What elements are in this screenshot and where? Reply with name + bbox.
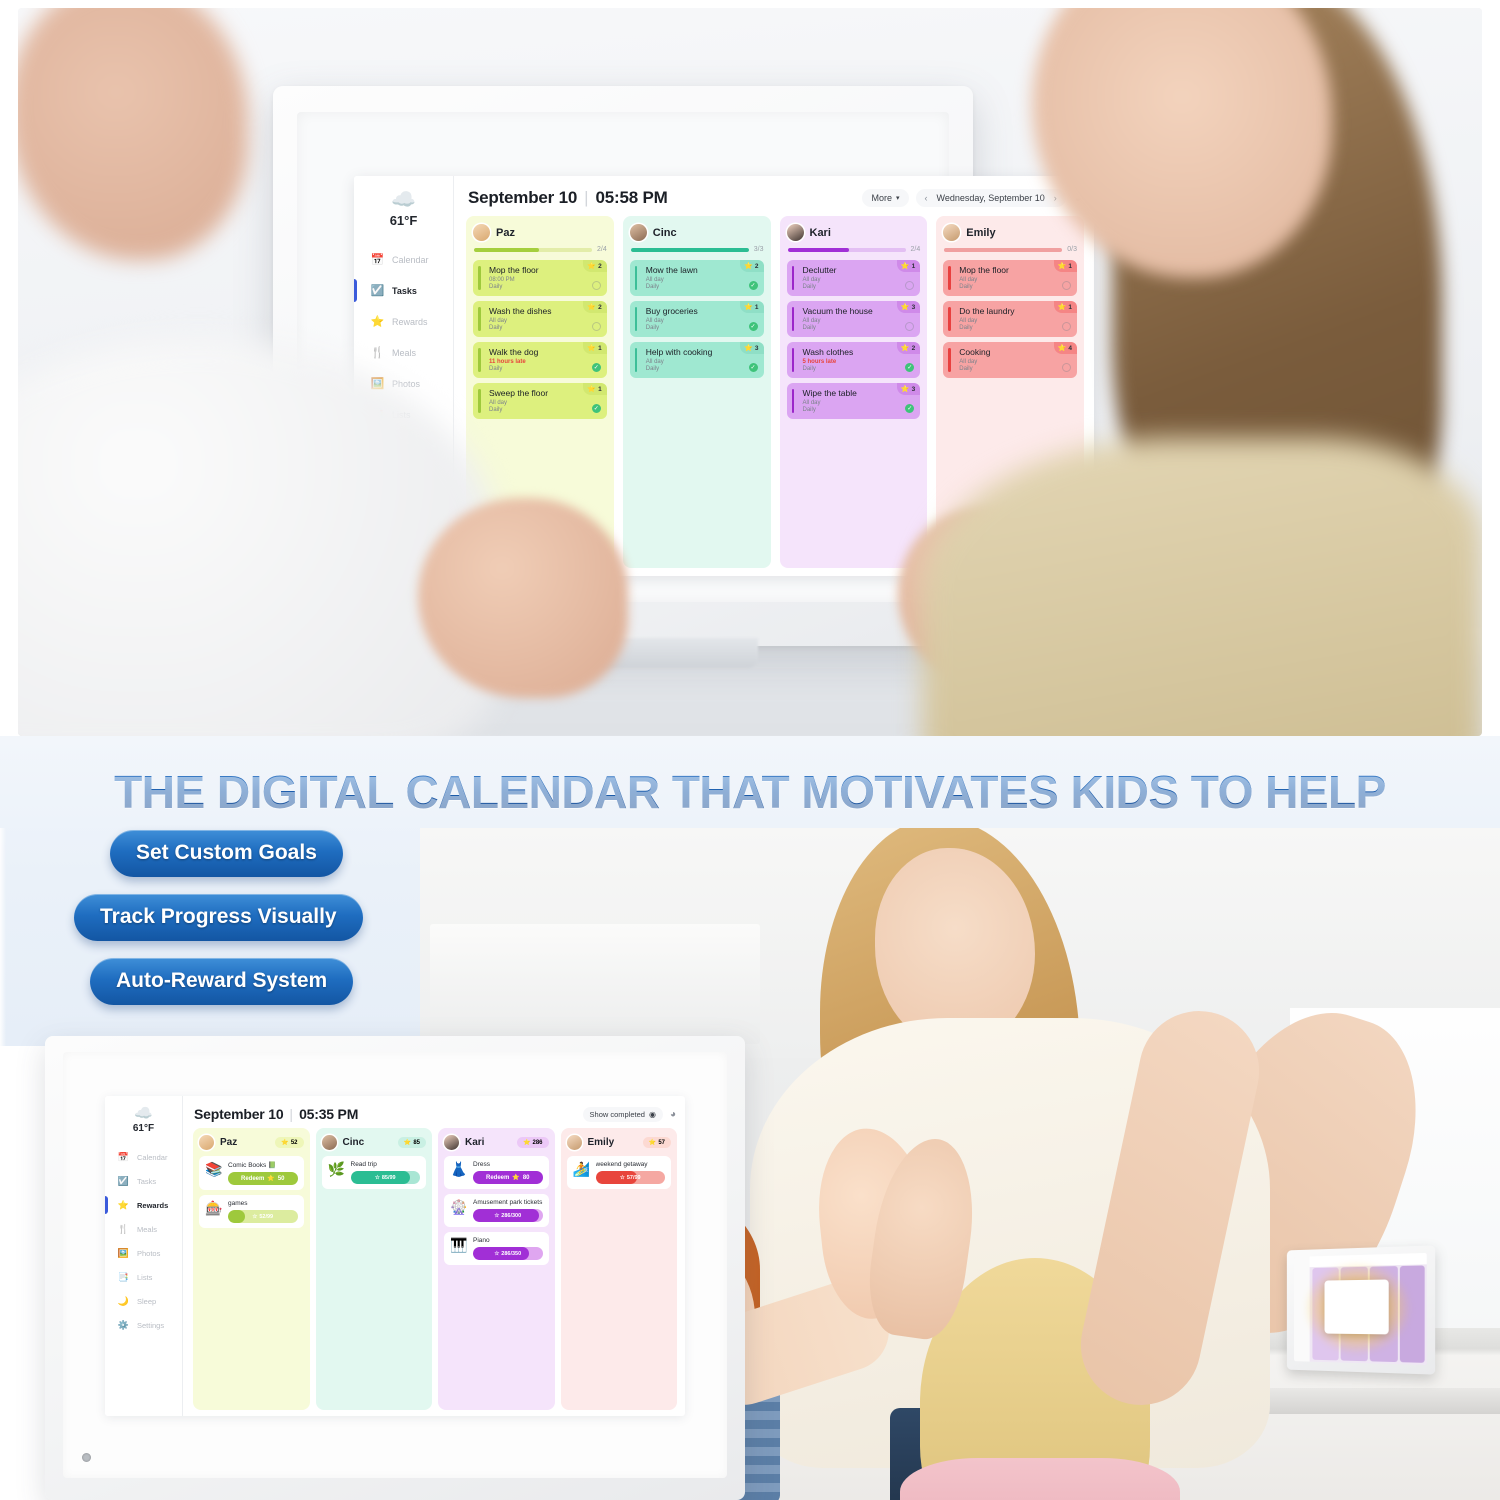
task-time: 11 hours late	[489, 359, 601, 365]
header-date: September 10	[194, 1106, 283, 1122]
task-repeat: Daily	[646, 284, 758, 290]
rewards-main: September 10 | 05:35 PM Show completed ◉…	[183, 1096, 685, 1416]
star-icon: ⭐	[649, 1139, 656, 1146]
sidebar-item-label: Photos	[137, 1249, 160, 1258]
column-member-name: Paz	[496, 227, 515, 239]
star-count: 1	[912, 263, 916, 270]
column-header: Emily⭐57	[567, 1135, 672, 1150]
counter-tablet-screen	[1294, 1253, 1427, 1365]
weather-widget: ☁️ 61°F	[390, 190, 418, 228]
weather-temperature: 61°F	[133, 1123, 154, 1134]
task-time: All day	[646, 359, 758, 365]
task-accent-bar	[948, 348, 951, 372]
reward-card[interactable]: 🎰games☆52/99	[199, 1195, 304, 1228]
feature-badge-list: Set Custom GoalsTrack Progress VisuallyA…	[80, 830, 410, 1022]
sidebar-item-label: Tasks	[137, 1177, 156, 1186]
task-time: All day	[646, 277, 758, 283]
task-card[interactable]: Mow the lawnAll dayDaily⭐2✓	[630, 260, 764, 296]
sidebar-item-meals[interactable]: 🍴Meals	[105, 1217, 182, 1241]
tasks-header: September 10 | 05:58 PM More ▾ ‹ Wednesd…	[454, 176, 1094, 216]
task-accent-bar	[948, 266, 951, 290]
eye-icon: ◉	[649, 1110, 656, 1119]
cutlery-icon: 🍴	[370, 346, 385, 359]
progress-bar-fill	[474, 248, 539, 252]
star-icon: ⭐	[587, 385, 596, 393]
task-body: Do the laundryAll dayDaily	[947, 306, 1071, 331]
feature-badge: Set Custom Goals	[110, 830, 343, 877]
task-accent-bar	[948, 307, 951, 331]
points-value: 52	[291, 1140, 298, 1146]
reward-card[interactable]: 🎡Amusement park tickets☆286/300	[444, 1194, 549, 1227]
moon-icon: 🌙	[117, 1296, 130, 1307]
column-header: Kari⭐286	[444, 1135, 549, 1150]
reward-detail: Read trip☆85/99	[351, 1161, 421, 1184]
sidebar-item-photos[interactable]: 🖼️Photos	[105, 1241, 182, 1265]
task-repeat: Daily	[489, 284, 601, 290]
task-repeat: Daily	[803, 325, 915, 331]
gear-icon: ⚙️	[117, 1320, 130, 1331]
star-reward-badge: ⭐1	[740, 301, 763, 313]
task-repeat: Daily	[646, 325, 758, 331]
star-reward-badge: ⭐1	[897, 260, 920, 272]
sidebar-item-label: Rewards	[137, 1201, 168, 1210]
column-header: Kari	[787, 224, 921, 241]
sidebar-item-rewards[interactable]: ⭐Rewards	[105, 1193, 182, 1217]
task-accent-bar	[792, 389, 795, 413]
task-card[interactable]: Buy groceriesAll dayDaily⭐1✓	[630, 301, 764, 337]
task-repeat: Daily	[489, 407, 601, 413]
cutlery-icon: 🍴	[117, 1224, 130, 1235]
reward-detail: Piano☆286/350	[473, 1237, 543, 1260]
reward-progress-value: 286/300	[501, 1213, 521, 1219]
header-time: 05:35 PM	[299, 1106, 358, 1122]
sidebar-item-label: Tasks	[392, 286, 417, 296]
points-badge: ⭐52	[275, 1137, 303, 1148]
avatar	[473, 224, 490, 241]
reward-detail: weekend getaway☆57/99	[596, 1161, 666, 1184]
task-body: Vacuum the houseAll dayDaily	[791, 306, 915, 331]
task-repeat: Daily	[959, 284, 1071, 290]
column-header: Emily	[943, 224, 1077, 241]
star-reward-badge: ⭐2	[583, 260, 606, 272]
task-card[interactable]: Wipe the tableAll dayDaily⭐3✓	[787, 383, 921, 419]
device-indicator-dot	[82, 1453, 91, 1462]
task-card[interactable]: Wash the dishesAll dayDaily⭐2	[473, 301, 607, 337]
avatar	[943, 224, 960, 241]
reward-progress-value: 286/350	[501, 1251, 521, 1257]
task-time: All day	[803, 318, 915, 324]
redeem-label: Redeem	[241, 1176, 264, 1182]
task-checkbox[interactable]	[1062, 322, 1071, 331]
progress-bar	[631, 248, 749, 252]
star-reward-badge: ⭐3	[740, 342, 763, 354]
reward-progress-bar[interactable]: ☆52/99	[228, 1210, 298, 1223]
progress-label: 2/4	[911, 246, 921, 253]
task-time: All day	[803, 400, 915, 406]
avatar	[444, 1135, 459, 1150]
task-checkbox[interactable]	[1062, 281, 1071, 290]
header-separator: |	[289, 1106, 293, 1122]
progress-bar	[788, 248, 906, 252]
progress-label: 0/3	[1067, 246, 1077, 253]
star-icon: ⭐	[744, 344, 753, 352]
reward-name: Amusement park tickets	[473, 1199, 543, 1206]
calendar-icon: 📅	[370, 253, 385, 266]
star-icon: ⭐	[901, 344, 910, 352]
column-member-name: Emily	[588, 1137, 615, 1148]
reward-progress-bar[interactable]: ☆286/350	[473, 1247, 543, 1260]
task-accent-bar	[635, 266, 638, 290]
task-card[interactable]: Vacuum the houseAll dayDaily⭐3	[787, 301, 921, 337]
child-head-blur	[18, 8, 248, 260]
points-badge: ⭐85	[398, 1137, 426, 1148]
points-value: 57	[658, 1140, 665, 1146]
reward-detail: Comic Books 📗Redeem⭐50	[228, 1161, 298, 1185]
column-member-name: Cinc	[343, 1137, 365, 1148]
reward-card[interactable]: 📚Comic Books 📗Redeem⭐50	[199, 1156, 304, 1190]
task-accent-bar	[792, 307, 795, 331]
reward-name: games	[228, 1200, 298, 1207]
header-time: 05:58 PM	[596, 188, 668, 208]
kitchen-range-hood	[430, 924, 760, 1044]
task-body: Mop the floorAll dayDaily	[947, 265, 1071, 290]
star-count: 3	[912, 386, 916, 393]
task-body: Sweep the floorAll dayDaily	[477, 388, 601, 413]
progress-bar	[944, 248, 1062, 252]
task-time: All day	[489, 400, 601, 406]
reward-progress-bar[interactable]: ☆85/99	[351, 1171, 421, 1184]
redeem-button[interactable]: Redeem⭐80	[473, 1171, 543, 1184]
sidebar-item-label: Rewards	[392, 317, 428, 327]
redeem-button[interactable]: Redeem⭐50	[228, 1172, 298, 1185]
task-body: Wash the dishesAll dayDaily	[477, 306, 601, 331]
task-checkbox-checked[interactable]: ✓	[749, 281, 758, 290]
column-header: Paz	[473, 224, 607, 241]
task-time: 08:00 PM	[489, 277, 601, 283]
task-checkbox-checked[interactable]: ✓	[592, 404, 601, 413]
sidebar-item-label: Photos	[392, 379, 420, 389]
progress-row: 2/4	[474, 246, 607, 253]
task-repeat: Daily	[803, 407, 915, 413]
reward-progress-text: ☆85/99	[375, 1175, 396, 1181]
sidebar-item-label: Calendar	[137, 1153, 167, 1162]
star-icon: ⭐	[744, 262, 753, 270]
reward-progress-text: ☆52/99	[252, 1214, 273, 1220]
counter-tablet	[1287, 1245, 1435, 1374]
progress-row: 3/3	[631, 246, 764, 253]
task-accent-bar	[635, 307, 638, 331]
progress-bar-fill	[631, 248, 749, 252]
task-accent-bar	[478, 389, 481, 413]
reward-image: 🎡	[450, 1199, 468, 1216]
task-repeat: Daily	[959, 325, 1071, 331]
sidebar-item-label: Lists	[137, 1273, 152, 1282]
task-card[interactable]: CookingAll dayDaily⭐4	[943, 342, 1077, 378]
redeem-cost: 80	[523, 1175, 530, 1181]
child-hand-blur	[418, 498, 628, 698]
task-body: Wash clothes5 hours lateDaily	[791, 347, 915, 372]
star-icon: ☆	[494, 1251, 499, 1257]
star-reward-badge: ⭐2	[740, 260, 763, 272]
weather-widget: ☁️ 61°F	[133, 1106, 154, 1134]
star-icon: ⭐	[404, 1139, 411, 1146]
checkbox-icon: ☑️	[117, 1176, 130, 1187]
progress-label: 2/4	[597, 246, 607, 253]
task-accent-bar	[478, 266, 481, 290]
star-reward-badge: ⭐4	[1054, 342, 1077, 354]
chevron-left-icon[interactable]: ‹	[925, 193, 928, 203]
star-icon: ⭐	[901, 385, 910, 393]
redeem-label: Redeem	[486, 1175, 509, 1181]
star-icon: ⭐	[523, 1139, 530, 1146]
star-reward-badge: ⭐3	[897, 301, 920, 313]
hero-product-photo: ☁️ 61°F 📅Calendar☑️Tasks⭐Rewards🍴Meals🖼️…	[18, 8, 1482, 736]
reward-image: 👗	[450, 1161, 468, 1178]
column-member-name: Kari	[810, 227, 831, 239]
task-checkbox[interactable]	[592, 322, 601, 331]
star-icon: ⭐	[1058, 262, 1067, 270]
star-reward-badge: ⭐2	[897, 342, 920, 354]
feature-badge: Track Progress Visually	[74, 894, 363, 941]
task-checkbox-checked[interactable]: ✓	[749, 322, 758, 331]
task-body: Buy groceriesAll dayDaily	[634, 306, 758, 331]
sidebar-item-meals[interactable]: 🍴Meals	[354, 337, 453, 368]
star-count: 1	[755, 304, 759, 311]
reward-name: Piano	[473, 1237, 543, 1244]
star-reward-badge: ⭐1	[1054, 301, 1077, 313]
column-member-name: Kari	[465, 1137, 484, 1148]
column-member-name: Cinc	[653, 227, 677, 239]
progress-row: 0/3	[944, 246, 1077, 253]
rewards-columns: Paz⭐52📚Comic Books 📗Redeem⭐50🎰games☆52/9…	[183, 1128, 685, 1416]
task-checkbox-checked[interactable]: ✓	[592, 363, 601, 372]
task-column: Kari2/4DeclutterAll dayDaily⭐1Vacuum the…	[780, 216, 928, 568]
progress-bar-fill	[788, 248, 849, 252]
task-card[interactable]: DeclutterAll dayDaily⭐1	[787, 260, 921, 296]
progress-row: 2/4	[788, 246, 921, 253]
task-time: All day	[959, 277, 1071, 283]
reward-column: Kari⭐286👗DressRedeem⭐80🎡Amusement park t…	[438, 1128, 555, 1410]
reward-progress-bar[interactable]: ☆57/99	[596, 1171, 666, 1184]
task-card[interactable]: Mop the floor08:00 PMDaily⭐2	[473, 260, 607, 296]
avatar	[787, 224, 804, 241]
task-body: Mop the floor08:00 PMDaily	[477, 265, 601, 290]
reward-progress-text: ☆286/300	[494, 1213, 521, 1219]
reward-column: Cinc⭐85🌿Read trip☆85/99	[316, 1128, 433, 1410]
reward-progress-value: 52/99	[259, 1214, 273, 1220]
task-body: DeclutterAll dayDaily	[791, 265, 915, 290]
task-body: Wipe the tableAll dayDaily	[791, 388, 915, 413]
goal-achieved-dialog	[1325, 1279, 1389, 1334]
reward-name: Dress	[473, 1161, 543, 1168]
sidebar-item-label: Calendar	[392, 255, 429, 265]
sidebar-item-calendar[interactable]: 📅Calendar	[354, 244, 453, 275]
cloud-icon: ☁️	[133, 1106, 154, 1121]
reward-progress-value: 85/99	[382, 1175, 396, 1181]
star-icon: ⭐	[117, 1200, 130, 1211]
column-member-name: Emily	[966, 227, 995, 239]
reward-card[interactable]: 👗DressRedeem⭐80	[444, 1156, 549, 1189]
avatar	[630, 224, 647, 241]
date-nav-label: Wednesday, September 10	[937, 193, 1045, 203]
task-accent-bar	[792, 348, 795, 372]
task-checkbox[interactable]	[592, 281, 601, 290]
star-reward-badge: ⭐3	[897, 383, 920, 395]
more-dropdown[interactable]: More ▾	[862, 189, 908, 207]
reward-card[interactable]: 🌿Read trip☆85/99	[322, 1156, 427, 1189]
star-icon: ⭐	[587, 303, 596, 311]
redeem-cost: 50	[278, 1176, 285, 1182]
reward-card[interactable]: 🎹Piano☆286/350	[444, 1232, 549, 1265]
task-repeat: Daily	[489, 366, 601, 372]
task-repeat: Daily	[803, 284, 915, 290]
star-count: 2	[755, 263, 759, 270]
points-value: 85	[413, 1140, 420, 1146]
task-card[interactable]: Walk the dog11 hours lateDaily⭐1✓	[473, 342, 607, 378]
progress-label: 3/3	[754, 246, 764, 253]
star-reward-badge: ⭐1	[583, 342, 606, 354]
column-header: Paz⭐52	[199, 1135, 304, 1150]
star-count: 3	[755, 345, 759, 352]
task-repeat: Daily	[489, 325, 601, 331]
star-icon: ☆	[375, 1175, 380, 1181]
sidebar-item-label: Meals	[392, 348, 416, 358]
star-count: 2	[912, 345, 916, 352]
task-accent-bar	[635, 348, 638, 372]
reward-detail: DressRedeem⭐80	[473, 1161, 543, 1184]
more-label: More	[871, 193, 892, 203]
star-count: 4	[1068, 345, 1072, 352]
column-header: Cinc⭐85	[322, 1135, 427, 1150]
reward-column: Paz⭐52📚Comic Books 📗Redeem⭐50🎰games☆52/9…	[193, 1128, 310, 1410]
rewards-sidebar: ☁️ 61°F 📅Calendar☑️Tasks⭐Rewards🍴Meals🖼️…	[105, 1096, 183, 1416]
star-icon: ⭐	[281, 1139, 288, 1146]
star-count: 2	[598, 304, 602, 311]
task-column: Cinc3/3Mow the lawnAll dayDaily⭐2✓Buy gr…	[623, 216, 771, 568]
star-icon: ⭐	[267, 1175, 274, 1182]
star-icon: ⭐	[1058, 303, 1067, 311]
task-checkbox-checked[interactable]: ✓	[749, 363, 758, 372]
star-icon: ⭐	[901, 262, 910, 270]
task-time: All day	[646, 318, 758, 324]
task-repeat: Daily	[803, 366, 915, 372]
task-body: CookingAll dayDaily	[947, 347, 1071, 372]
reward-name: Comic Books 📗	[228, 1161, 298, 1169]
star-reward-badge: ⭐1	[583, 383, 606, 395]
reward-detail: Amusement park tickets☆286/300	[473, 1199, 543, 1222]
show-completed-label: Show completed	[590, 1110, 645, 1119]
star-reward-badge: ⭐1	[1054, 260, 1077, 272]
show-completed-toggle[interactable]: Show completed ◉	[583, 1107, 663, 1122]
rewards-header: September 10 | 05:35 PM Show completed ◉…	[183, 1096, 685, 1128]
list-icon: 📑	[117, 1272, 130, 1283]
task-accent-bar	[478, 307, 481, 331]
star-icon: ⭐	[1058, 344, 1067, 352]
points-value: 286	[532, 1140, 542, 1146]
reward-image: 🏄	[573, 1161, 591, 1178]
reward-image: 🎹	[450, 1237, 468, 1254]
date-navigator[interactable]: ‹ Wednesday, September 10 ›	[916, 189, 1066, 207]
task-checkbox[interactable]	[1062, 363, 1071, 372]
star-icon: ⭐	[587, 262, 596, 270]
photo-icon: 🖼️	[117, 1248, 130, 1259]
girl-pink-dress	[900, 1458, 1180, 1500]
reward-name: weekend getaway	[596, 1161, 666, 1168]
sidebar-item-lists[interactable]: 📑Lists	[105, 1265, 182, 1289]
star-count: 1	[1068, 304, 1072, 311]
reward-image: 🎰	[205, 1200, 223, 1217]
task-body: Mow the lawnAll dayDaily	[634, 265, 758, 290]
reward-progress-text: ☆286/350	[494, 1251, 521, 1257]
task-time: All day	[959, 318, 1071, 324]
avatar	[567, 1135, 582, 1150]
sidebar-item-label: Meals	[137, 1225, 157, 1234]
star-icon: ⭐	[512, 1174, 519, 1181]
sidebar-item-label: Settings	[137, 1321, 164, 1330]
column-member-name: Paz	[220, 1137, 237, 1148]
star-count: 1	[598, 345, 602, 352]
task-body: Help with cookingAll dayDaily	[634, 347, 758, 372]
cloud-icon: ☁️	[390, 190, 418, 210]
task-time: 5 hours late	[803, 359, 915, 365]
wifi-icon: ◕	[670, 1109, 676, 1120]
reward-progress-text: ☆57/99	[620, 1175, 641, 1181]
header-date: September 10	[468, 188, 577, 208]
sidebar-item-rewards[interactable]: ⭐Rewards	[354, 306, 453, 337]
star-icon: ☆	[620, 1175, 625, 1181]
star-icon: ⭐	[901, 303, 910, 311]
checkbox-icon: ☑️	[370, 284, 385, 297]
header-separator: |	[584, 188, 588, 208]
photo-edge-fade	[0, 828, 6, 1500]
star-icon: ⭐	[744, 303, 753, 311]
reward-column: Emily⭐57🏄weekend getaway☆57/99	[561, 1128, 678, 1410]
chevron-down-icon: ▾	[896, 194, 900, 202]
task-card[interactable]: Mop the floorAll dayDaily⭐1	[943, 260, 1077, 296]
calendar-icon: 📅	[117, 1152, 130, 1163]
sidebar-item-sleep[interactable]: 🌙Sleep	[105, 1289, 182, 1313]
star-count: 2	[598, 263, 602, 270]
task-card[interactable]: Do the laundryAll dayDaily⭐1	[943, 301, 1077, 337]
star-count: 1	[598, 386, 602, 393]
task-body: Walk the dog11 hours lateDaily	[477, 347, 601, 372]
reward-progress-bar[interactable]: ☆286/300	[473, 1209, 543, 1222]
reward-progress-value: 57/99	[627, 1175, 641, 1181]
reward-image: 📚	[205, 1161, 223, 1178]
progress-bar	[474, 248, 592, 252]
star-reward-badge: ⭐2	[583, 301, 606, 313]
avatar	[199, 1135, 214, 1150]
header-controls: Show completed ◉ ◕	[583, 1107, 676, 1122]
avatar	[322, 1135, 337, 1150]
sidebar-item-label: Sleep	[137, 1297, 156, 1306]
task-card[interactable]: Help with cookingAll dayDaily⭐3✓	[630, 342, 764, 378]
points-badge: ⭐57	[643, 1137, 671, 1148]
task-card[interactable]: Wash clothes5 hours lateDaily⭐2✓	[787, 342, 921, 378]
star-count: 3	[912, 304, 916, 311]
sidebar-item-settings[interactable]: ⚙️Settings	[105, 1313, 182, 1337]
task-accent-bar	[792, 266, 795, 290]
reward-card[interactable]: 🏄weekend getaway☆57/99	[567, 1156, 672, 1189]
task-card[interactable]: Sweep the floorAll dayDaily⭐1✓	[473, 383, 607, 419]
sidebar-item-calendar[interactable]: 📅Calendar	[105, 1145, 182, 1169]
rewards-app-screen: ☁️ 61°F 📅Calendar☑️Tasks⭐Rewards🍴Meals🖼️…	[105, 1096, 685, 1416]
star-icon: ☆	[494, 1213, 499, 1219]
sidebar-item-tasks[interactable]: ☑️Tasks	[105, 1169, 182, 1193]
star-icon: ☆	[252, 1214, 257, 1220]
page-headline: THE DIGITAL CALENDAR THAT MOTIVATES KIDS…	[0, 765, 1500, 819]
sidebar-item-tasks[interactable]: ☑️Tasks	[354, 275, 453, 306]
